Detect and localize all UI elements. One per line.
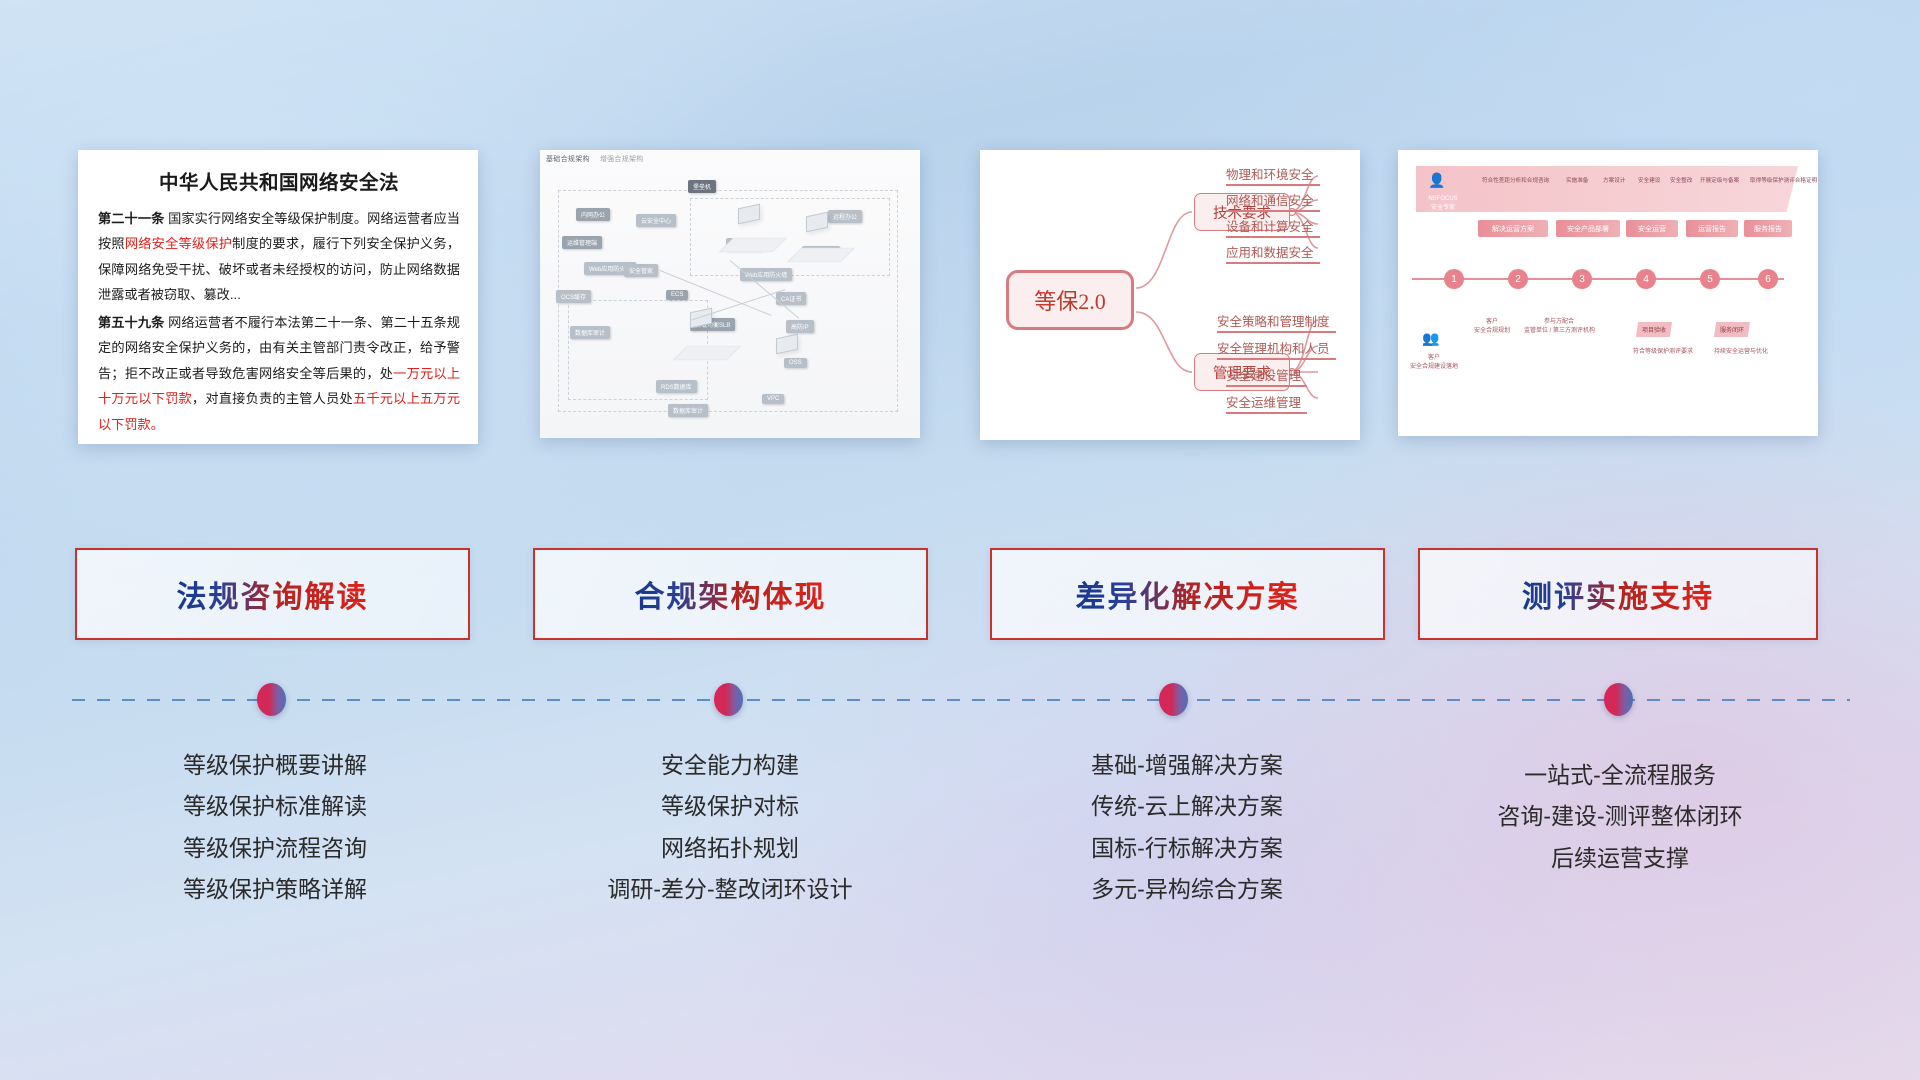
law-article-59: 第五十九条 网络运营者不履行本法第二十一条、第二十五条规定的网络安全保护义务的，… bbox=[98, 310, 460, 437]
roadmap-diagram: 👤 NSFOCUS 安全专家 符合性差距分析和合规咨询 实施准备 方案设计 安全… bbox=[1398, 150, 1818, 436]
section-title-box-4[interactable]: 测评实施支持 bbox=[1418, 548, 1818, 640]
section-2-items: 安全能力构建 等级保护对标 网络拓扑规划 调研-差分-整改闭环设计 bbox=[535, 745, 925, 911]
roadmap-step-6: 6 bbox=[1758, 269, 1778, 289]
list-item: 一站式-全流程服务 bbox=[1420, 755, 1820, 796]
list-item: 网络拓扑规划 bbox=[535, 828, 925, 869]
section-3-items: 基础-增强解决方案 传统-云上解决方案 国标-行标解决方案 多元-异构综合方案 bbox=[992, 745, 1382, 911]
law-article-59-number: 第五十九条 bbox=[98, 315, 164, 330]
architecture-node-0: 堡垒机 bbox=[688, 180, 716, 193]
mindmap-leaf-tech-3: 应用和数据安全 bbox=[1226, 242, 1314, 263]
law-article-59-seg2: ，对直接负责的主管人员处 bbox=[192, 391, 353, 406]
roadmap-band-item-1: 实施准备 bbox=[1566, 176, 1588, 184]
card-cybersecurity-law[interactable]: 中华人民共和国网络安全法 第二十一条 国家实行网络安全等级保护制度。网络运营者应… bbox=[78, 150, 478, 444]
mindmap-leaf-mgmt-1: 安全管理机构和人员 bbox=[1217, 338, 1330, 359]
architecture-tab-enhanced[interactable]: 增强合规架构 bbox=[600, 156, 644, 163]
top-cards-row: 中华人民共和国网络安全法 第二十一条 国家实行网络安全等级保护制度。网络运营者应… bbox=[0, 150, 1920, 450]
mindmap: 等保2.0 技术要求 管理要求 物理和环境安全 网络和通信安全 设备和计算安全 … bbox=[980, 150, 1360, 440]
architecture-node-1: 内网办公 bbox=[576, 208, 610, 221]
list-item: 基础-增强解决方案 bbox=[992, 745, 1382, 786]
card-compliance-architecture[interactable]: 基础合规架构增强合规架构 堡垒机 内网办公 运维管理端 Web应用防火墙 OCS… bbox=[540, 150, 920, 438]
architecture-node-14: RDS数据库 bbox=[656, 380, 697, 393]
roadmap-axis bbox=[1412, 278, 1784, 280]
roadmap-service-4: 服务报告 bbox=[1744, 220, 1792, 237]
architecture-node-4: OCS缓存 bbox=[556, 290, 591, 303]
architecture-node-5: 数据库审计 bbox=[570, 326, 610, 339]
architecture-node-15: 数据库审计 bbox=[668, 404, 708, 417]
roadmap-band-item-2: 方案设计 bbox=[1603, 176, 1625, 184]
roadmap-tag-0: 项目验收 bbox=[1636, 322, 1672, 337]
roadmap-band-item-3: 安全建设 bbox=[1638, 176, 1660, 184]
architecture-tabs: 基础合规架构增强合规架构 bbox=[546, 154, 644, 164]
section-title-box-2[interactable]: 合规架构体现 bbox=[533, 548, 928, 640]
architecture-node-12: OSS bbox=[784, 358, 807, 368]
roadmap-band-item-5: 开展定级与备案 bbox=[1700, 176, 1739, 184]
list-item: 等级保护流程咨询 bbox=[80, 828, 470, 869]
roadmap-phase-band bbox=[1416, 166, 1798, 212]
section-title-box-3[interactable]: 差异化解决方案 bbox=[990, 548, 1385, 640]
roadmap-brand-sub: 安全专家 bbox=[1431, 205, 1455, 211]
timeline-dot-4[interactable] bbox=[1604, 683, 1633, 716]
architecture-node-11: 高防IP bbox=[786, 320, 814, 333]
mindmap-leaf-mgmt-2: 安全建设管理 bbox=[1226, 365, 1301, 386]
roadmap-persona-1-name: 客户 bbox=[1486, 319, 1498, 325]
card-implementation-roadmap[interactable]: 👤 NSFOCUS 安全专家 符合性差距分析和合规咨询 实施准备 方案设计 安全… bbox=[1398, 150, 1818, 436]
list-item: 咨询-建设-测评整体闭环 bbox=[1420, 796, 1820, 837]
list-item: 后续运营支撑 bbox=[1420, 838, 1820, 879]
section-title-1-label: 法规咨询解读 bbox=[177, 572, 369, 616]
list-item: 传统-云上解决方案 bbox=[992, 786, 1382, 827]
roadmap-persona-0: 客户 安全合规建设落地 bbox=[1410, 352, 1458, 370]
roadmap-persona-2-sub: 监管单位 / 第三方测评机构 bbox=[1524, 328, 1595, 334]
roadmap-brand: NSFOCUS 安全专家 bbox=[1416, 196, 1470, 211]
section-items-row: 等级保护概要讲解 等级保护标准解读 等级保护流程咨询 等级保护策略详解 安全能力… bbox=[0, 745, 1920, 995]
timeline-dot-3[interactable] bbox=[1159, 683, 1188, 716]
section-title-box-1[interactable]: 法规咨询解读 bbox=[75, 548, 470, 640]
list-item: 多元-异构综合方案 bbox=[992, 869, 1382, 910]
section-title-3-label: 差异化解决方案 bbox=[1076, 572, 1300, 616]
section-title-2-label: 合规架构体现 bbox=[635, 572, 827, 616]
roadmap-band-item-4: 安全整改 bbox=[1670, 176, 1692, 184]
law-article-21-number: 第二十一条 bbox=[98, 211, 164, 226]
poster-stage: 中华人民共和国网络安全法 第二十一条 国家实行网络安全等级保护制度。网络运营者应… bbox=[0, 0, 1920, 1080]
section-4-items: 一站式-全流程服务 咨询-建设-测评整体闭环 后续运营支撑 bbox=[1420, 755, 1820, 879]
roadmap-band-item-0: 符合性差距分析和合规咨询 bbox=[1482, 176, 1549, 184]
mindmap-leaf-mgmt-3: 安全运维管理 bbox=[1226, 392, 1301, 413]
roadmap-service-3: 运营报告 bbox=[1686, 220, 1738, 237]
architecture-node-18: 远程办公 bbox=[828, 210, 862, 223]
architecture-node-7: 安全管家 bbox=[624, 264, 658, 277]
roadmap-service-2: 安全运营 bbox=[1626, 220, 1678, 237]
roadmap-step-2: 2 bbox=[1508, 269, 1528, 289]
timeline-dot-1[interactable] bbox=[257, 683, 286, 716]
roadmap-tag-1-sub: 持续安全运营与优化 bbox=[1704, 346, 1778, 355]
list-item: 国标-行标解决方案 bbox=[992, 828, 1382, 869]
architecture-node-8: ECS bbox=[666, 290, 688, 300]
roadmap-step-4: 4 bbox=[1636, 269, 1656, 289]
roadmap-persona-1-sub: 安全合规规划 bbox=[1474, 328, 1510, 334]
roadmap-band-item-6: 取得等级保护测评合格证明 bbox=[1750, 176, 1817, 184]
roadmap-service-0: 解决运营方案 bbox=[1478, 220, 1548, 237]
card-mindmap-dengbao[interactable]: 等保2.0 技术要求 管理要求 物理和环境安全 网络和通信安全 设备和计算安全 … bbox=[980, 150, 1360, 440]
roadmap-tag-0-sub: 符合等级保护测评要求 bbox=[1626, 346, 1700, 355]
architecture-diagram: 基础合规架构增强合规架构 堡垒机 内网办公 运维管理端 Web应用防火墙 OCS… bbox=[540, 150, 920, 438]
law-article-21: 第二十一条 国家实行网络安全等级保护制度。网络运营者应当按照网络安全等级保护制度… bbox=[98, 206, 460, 308]
roadmap-tag-1: 服务闭环 bbox=[1714, 322, 1750, 337]
list-item: 等级保护概要讲解 bbox=[80, 745, 470, 786]
list-item: 等级保护对标 bbox=[535, 786, 925, 827]
section-titles-row: 法规咨询解读 合规架构体现 差异化解决方案 测评实施支持 bbox=[0, 548, 1920, 644]
law-title: 中华人民共和国网络安全法 bbox=[98, 166, 460, 195]
list-item: 等级保护标准解读 bbox=[80, 786, 470, 827]
architecture-tab-basic[interactable]: 基础合规架构 bbox=[546, 156, 590, 163]
law-body: 中华人民共和国网络安全法 第二十一条 国家实行网络安全等级保护制度。网络运营者应… bbox=[78, 150, 478, 447]
mindmap-leaf-tech-2: 设备和计算安全 bbox=[1226, 216, 1314, 237]
roadmap-brand-name: NSFOCUS bbox=[1428, 196, 1457, 202]
architecture-node-6: 云安全中心 bbox=[636, 214, 676, 227]
list-item: 等级保护策略详解 bbox=[80, 869, 470, 910]
list-item: 调研-差分-整改闭环设计 bbox=[535, 869, 925, 910]
roadmap-persona-1: 客户 安全合规规划 bbox=[1470, 316, 1514, 334]
roadmap-step-5: 5 bbox=[1700, 269, 1720, 289]
mindmap-leaf-mgmt-0: 安全策略和管理制度 bbox=[1217, 311, 1330, 332]
roadmap-persona-0-name: 客户 bbox=[1428, 355, 1440, 361]
user-expert-icon: 👤 bbox=[1428, 172, 1445, 189]
section-title-4-label: 测评实施支持 bbox=[1522, 572, 1714, 616]
timeline-dot-2[interactable] bbox=[714, 683, 743, 716]
law-article-21-highlight: 网络安全等级保护 bbox=[125, 236, 232, 251]
roadmap-step-1: 1 bbox=[1444, 269, 1464, 289]
mindmap-leaf-tech-0: 物理和环境安全 bbox=[1226, 164, 1314, 185]
architecture-node-13: VPC bbox=[762, 394, 784, 404]
roadmap-persona-2-name: 参与方配合 bbox=[1544, 319, 1574, 325]
timeline-dashed-line bbox=[72, 699, 1850, 701]
mindmap-root: 等保2.0 bbox=[1006, 270, 1134, 330]
list-item: 安全能力构建 bbox=[535, 745, 925, 786]
roadmap-step-3: 3 bbox=[1572, 269, 1592, 289]
architecture-node-2: 运维管理端 bbox=[562, 236, 602, 249]
roadmap-persona-0-sub: 安全合规建设落地 bbox=[1410, 364, 1458, 370]
mindmap-leaf-tech-1: 网络和通信安全 bbox=[1226, 190, 1314, 211]
customer-icon: 👥 bbox=[1422, 330, 1439, 347]
roadmap-service-1: 安全产品部署 bbox=[1556, 220, 1620, 237]
section-1-items: 等级保护概要讲解 等级保护标准解读 等级保护流程咨询 等级保护策略详解 bbox=[80, 745, 470, 911]
roadmap-persona-2: 参与方配合 监管单位 / 第三方测评机构 bbox=[1524, 316, 1594, 334]
